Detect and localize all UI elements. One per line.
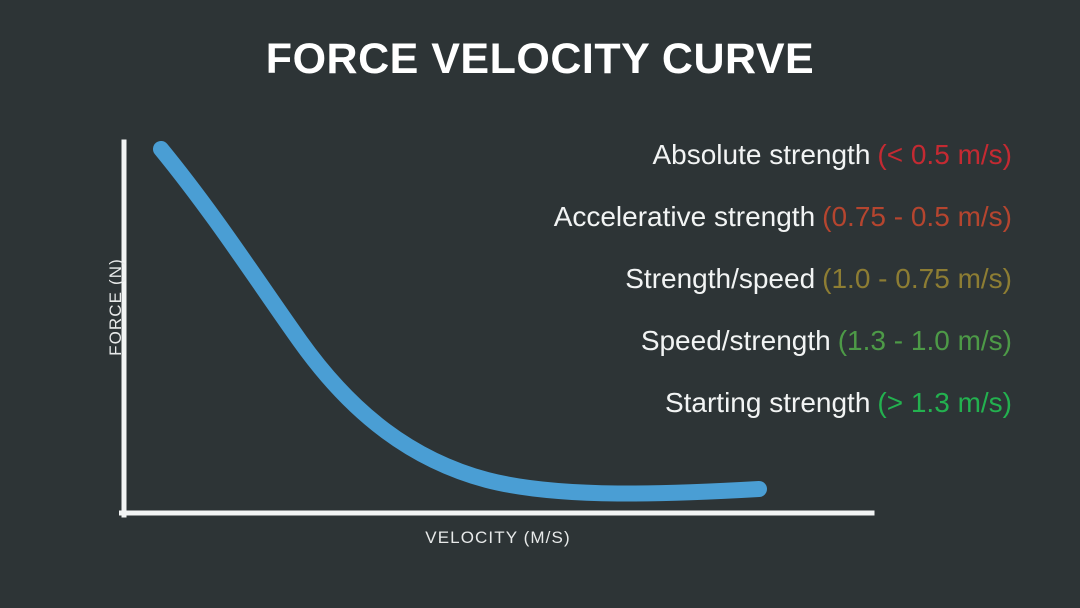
zone-label-absolute-strength: Absolute strength(< 0.5 m/s) [0,136,1012,198]
zone-label-list: Absolute strength(< 0.5 m/s) Accelerativ… [0,136,1012,446]
zone-label-strength-speed: Strength/speed(1.0 - 0.75 m/s) [0,260,1012,322]
zone-label-speed-strength: Speed/strength(1.3 - 1.0 m/s) [0,322,1012,384]
zone-name: Absolute strength [652,139,870,170]
zone-range: (1.0 - 0.75 m/s) [822,263,1012,294]
zone-name: Strength/speed [625,263,815,294]
zone-name: Speed/strength [641,325,831,356]
force-velocity-curve-poster: FORCE VELOCITY CURVE FORCE (N) VELOCITY … [0,0,1080,608]
zone-name: Accelerative strength [554,201,815,232]
x-axis-label: VELOCITY (M/S) [124,528,872,548]
zone-name: Starting strength [665,387,870,418]
zone-range: (1.3 - 1.0 m/s) [838,325,1012,356]
zone-range: (< 0.5 m/s) [877,139,1012,170]
zone-label-starting-strength: Starting strength(> 1.3 m/s) [0,384,1012,446]
zone-label-accelerative-strength: Accelerative strength(0.75 - 0.5 m/s) [0,198,1012,260]
zone-range: (> 1.3 m/s) [877,387,1012,418]
zone-range: (0.75 - 0.5 m/s) [822,201,1012,232]
